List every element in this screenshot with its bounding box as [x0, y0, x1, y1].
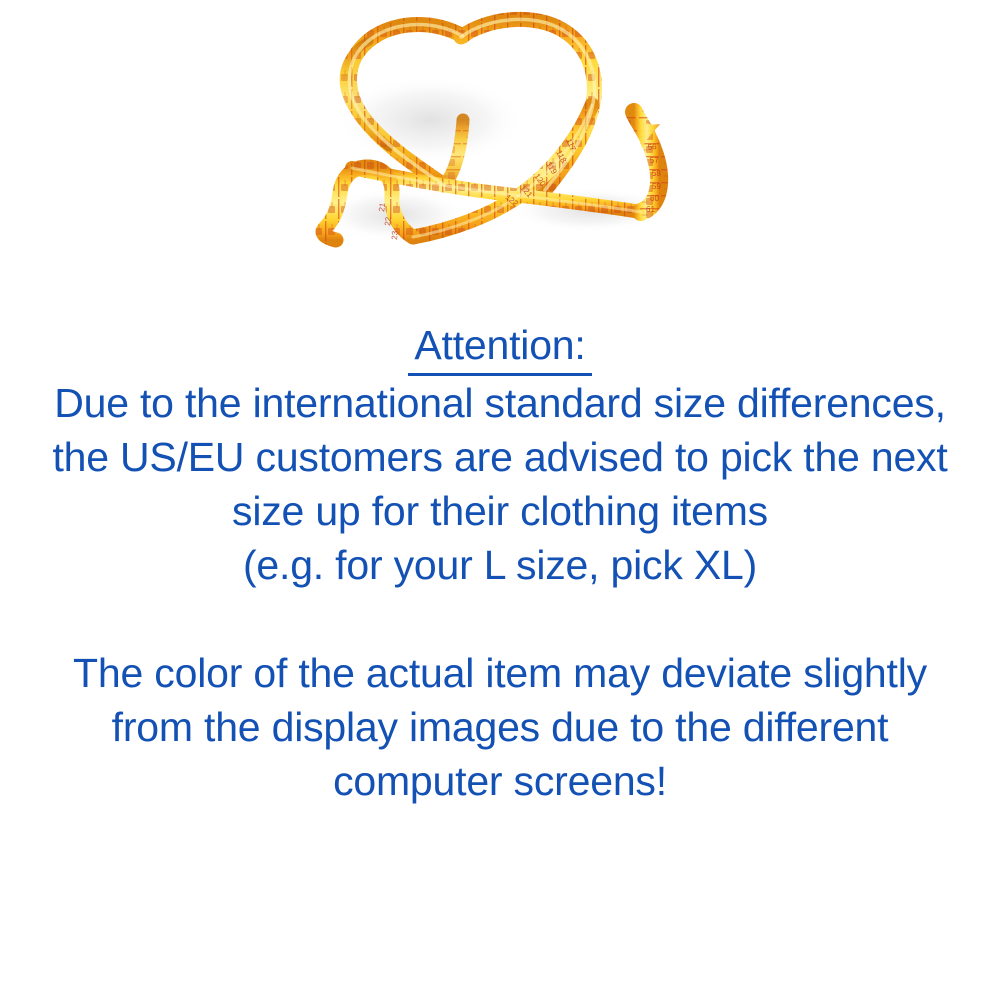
- svg-text:59: 59: [652, 182, 661, 191]
- measuring-tape-illustration: 21 22 23 56 57 58 59 60 61 117 118 119 1…: [0, 0, 1000, 300]
- size-notice-page: 21 22 23 56 57 58 59 60 61 117 118 119 1…: [0, 0, 1000, 1000]
- page-title: Attention:: [0, 318, 1000, 376]
- paragraph-spacer: [0, 592, 1000, 646]
- size-notice-line: (e.g. for your L size, pick XL): [0, 538, 1000, 592]
- svg-text:57: 57: [650, 155, 660, 165]
- svg-text:22: 22: [383, 216, 393, 226]
- svg-text:58: 58: [652, 169, 662, 178]
- size-notice-paragraph: Due to the international standard size d…: [0, 376, 1000, 592]
- measuring-tape-heart-image: 21 22 23 56 57 58 59 60 61 117 118 119 1…: [0, 0, 1000, 300]
- page-title-text: Attention:: [408, 318, 591, 376]
- color-notice-line: computer screens!: [0, 754, 1000, 808]
- size-notice-line: the US/EU customers are advised to pick …: [0, 430, 1000, 484]
- size-notice-line: size up for their clothing items: [0, 484, 1000, 538]
- color-notice-line: from the display images due to the diffe…: [0, 700, 1000, 754]
- notice-text-block: Attention: Due to the international stan…: [0, 318, 1000, 808]
- color-notice-line: The color of the actual item may deviate…: [0, 646, 1000, 700]
- svg-text:56: 56: [647, 142, 657, 152]
- size-notice-line: Due to the international standard size d…: [0, 376, 1000, 430]
- svg-text:60: 60: [650, 194, 659, 203]
- svg-text:21: 21: [377, 202, 387, 213]
- svg-text:61: 61: [646, 205, 655, 214]
- svg-text:23: 23: [390, 230, 400, 240]
- color-notice-paragraph: The color of the actual item may deviate…: [0, 646, 1000, 808]
